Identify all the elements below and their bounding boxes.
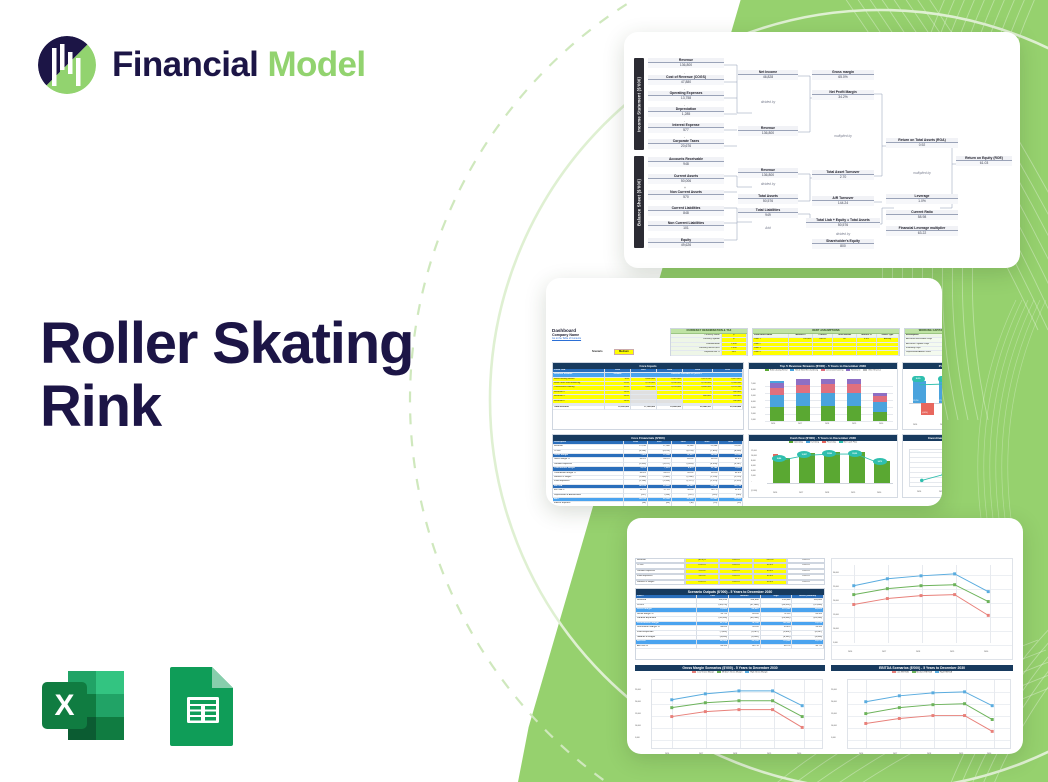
cumulative-cash-line — [910, 450, 942, 487]
data-label-bubble: 9,070 — [873, 458, 887, 465]
dupont-node: Operating Expenses13,758 — [648, 91, 724, 101]
table-cell: 24.5% — [697, 645, 729, 650]
table-row: Salaries & Wages105.0%100.0%95.0%100.0% — [635, 580, 825, 585]
table-cell: 40.7% — [729, 645, 761, 650]
table-of-contents-link[interactable]: Go to the Table of Contents — [552, 337, 581, 340]
working-capital-panel: WORKING CAPITAL & DEPRECIATION Assumptio… — [904, 328, 942, 356]
dupont-node: Gross margin65.0% — [812, 70, 874, 80]
scenario-assumptions-table: Revenue(85.0)%100.0%110.0%100.0%COGS105.… — [635, 558, 825, 585]
legend-item: Operating — [789, 441, 803, 443]
investment-payback-chart[interactable]: Investment Payback Chart ($'000) - 5 Yea… — [902, 434, 942, 498]
legend-item: Investing — [806, 441, 819, 443]
brand-wordmark: Financial Model — [112, 45, 366, 85]
scenario-sheet: Revenue(85.0)%100.0%110.0%100.0%COGS105.… — [635, 558, 1015, 728]
dupont-node: Current Assets50,006 — [648, 174, 724, 184]
legend-item: Medium Gross Margin — [717, 671, 742, 673]
ebitda-scenarios-chart[interactable]: EBITDA Scenarios ($'000) - 5 Years to De… — [831, 665, 1013, 754]
plot-area: 36.2% 37.1% 38.0% 38.7% 39.4% 12,250 17,… — [909, 377, 942, 423]
table-cell: (31) — [696, 502, 720, 506]
dupont-node: Total Liab + Equity = Total Assets50,576 — [806, 218, 880, 228]
page-title-line2: Rink — [40, 376, 510, 439]
table-cell: Interest Expense — [553, 502, 624, 506]
dupont-node: Equity49,626 — [648, 238, 724, 248]
cash-flow-chart[interactable]: Cash flow ($'000) - 5 Years to December … — [748, 434, 898, 498]
legend-item: Retail Store Merchandising — [790, 369, 818, 371]
table-cell[interactable]: 100.0% — [719, 580, 753, 585]
gross-margin-scenarios-chart[interactable]: Gross Margin Scenarios ($'000) - 5 Years… — [635, 665, 825, 754]
legend-item: Net Cash Flow — [839, 441, 857, 443]
scenario-selector[interactable]: Medium — [614, 349, 634, 355]
brand-word-model: Model — [267, 45, 365, 84]
dupont-node: Current Ratio58.98 — [886, 210, 958, 220]
table-row: EBITDA %24.5%40.7%44.7%40.7% — [636, 645, 824, 650]
dupont-node: Return on Total Assets (ROA)0.92 — [886, 138, 958, 148]
core-inputs-table: Core Inputs Fiscal Year20262027202820292… — [552, 362, 744, 430]
dupont-node: Non Current Assets570 — [648, 190, 724, 200]
dupont-node: Net Income46,828 — [738, 70, 798, 80]
revenue-scenarios-chart[interactable]: 30,000 25,000 20,000 15,000 10,000 5,000… — [831, 558, 1013, 660]
table-row: Interest Expense(48)(44)(38)(31)(25) — [553, 502, 743, 506]
dupont-node: Interest Expense577 — [648, 123, 724, 133]
plot-area — [909, 449, 942, 487]
dupont-node: Total Asset Turnover2.70 — [812, 170, 874, 180]
dupont-node: Total Assets50,576 — [738, 194, 798, 204]
scenario-lines — [832, 559, 1012, 660]
plot-area: 8,464 10,837 12,500 13,891 9,070 — [767, 449, 893, 487]
currency-panel: CURRENCY DENOMINATION & TAX Currency Nam… — [670, 328, 748, 356]
core-financials-body: Revenue12,25017,36019,26622,54625,537COG… — [553, 445, 743, 506]
brand-logo: Financial Model — [36, 34, 366, 96]
core-financials-table: Core Financials ($'000) Description20262… — [552, 434, 744, 498]
dupont-node: Total Liabilities949 — [738, 208, 798, 218]
dupont-node: Revenue136,800 — [738, 126, 798, 136]
dupont-node: Accounts Receivable948 — [648, 157, 724, 167]
data-label-bubble: 36.2% — [912, 376, 925, 382]
dupont-node: Revenue136,800 — [648, 58, 724, 68]
table-cell[interactable]: 95.0% — [753, 580, 787, 585]
circle-bar-chart-icon — [36, 34, 98, 96]
table-cell: (44) — [648, 502, 672, 506]
table-cell: EBITDA % — [636, 645, 697, 650]
poster-stage: Financial Model Roller Skating Rink X — [0, 0, 1048, 782]
dupont-node: Leverage1.0% — [886, 194, 958, 204]
scenario-label: Scenario — [592, 350, 603, 353]
legend-item: High EBITDA — [935, 671, 952, 673]
legend-item: High Gross Margin — [745, 671, 767, 673]
table-cell: (38) — [672, 502, 696, 506]
dupont-node: Cost of Revenue (COGS)47,880 — [648, 75, 724, 85]
legend-item: Other Revenue — [863, 369, 881, 371]
format-badges: X — [36, 663, 239, 748]
page-title: Roller Skating Rink — [40, 313, 510, 438]
data-label-bubble: 8,464 — [772, 455, 786, 462]
svg-text:X: X — [54, 689, 74, 722]
legend-item: Roller-skating Rental — [765, 369, 787, 371]
dupont-node: Net Profit Margin34.2% — [812, 90, 874, 100]
dashboard-sheet: Dashboard Company Name Go to the Table o… — [552, 328, 936, 492]
dupont-node: Current Liabilities848 — [648, 206, 724, 216]
legend-item: Low EBITDA — [892, 671, 909, 673]
table-cell: 100.0% — [787, 580, 825, 585]
dupont-node: Corporate Taxes20,676 — [648, 139, 724, 149]
table-cell: (25) — [719, 502, 743, 506]
ebitda-pct-line — [909, 377, 942, 437]
scenario-analysis-screenshot[interactable]: Revenue(85.0)%100.0%110.0%100.0%COGS105.… — [627, 518, 1023, 754]
table-cell: 44.7% — [761, 645, 793, 650]
data-label-bubble: 13,891 — [848, 450, 862, 457]
debt-assumptions-panel: DEBT ASSUMPTIONS Loan/Grant Name Amount … — [752, 328, 900, 356]
data-label-bubble: 37.1% — [938, 376, 942, 382]
dupont-node: Return on Equity (ROE)61.03 — [956, 156, 1012, 166]
table-cell: Salaries & Wages — [635, 580, 685, 585]
dupont-node: Revenue136,800 — [738, 168, 798, 178]
dupont-node: Shareholder's Equity800 — [812, 239, 874, 249]
profitability-chart[interactable]: Profitability ($'000) - 5 Years to Decem… — [902, 362, 942, 430]
dupont-balance-sheet-label: Balance Sheet ($'000) — [634, 156, 644, 248]
plot-area — [651, 679, 823, 749]
legend-item: Financing — [822, 441, 836, 443]
dupont-node: A/R Turnover144.24 — [812, 196, 874, 206]
plot-area — [847, 679, 1011, 749]
plot-area — [765, 379, 893, 421]
dupont-node: Non Current Liabilities101 — [648, 221, 724, 231]
revenue-streams-chart[interactable]: Top 5 Revenue Streams ($'000) - 5 Years … — [748, 362, 898, 430]
dupont-diagram: Income Statement ($'000) Balance Sheet (… — [634, 56, 1012, 248]
legend-item: Low Gross Margin — [692, 671, 714, 673]
table-cell[interactable]: 105.0% — [685, 580, 719, 585]
dupont-node: Depreciation1,285 — [648, 107, 724, 117]
table-cell: (48) — [624, 502, 648, 506]
legend-item: Revenue 4 — [846, 369, 860, 371]
dupont-income-statement-label: Income Statement ($'000) — [634, 58, 644, 150]
scenario-outputs-table: Scenario Outputs ($'000) - 5 Years to De… — [635, 588, 825, 660]
legend-item: Medium EBITDA — [912, 671, 932, 673]
page-title-line1: Roller Skating — [40, 313, 510, 376]
brand-word-financial: Financial — [112, 45, 258, 84]
table-cell: 40.7% — [792, 645, 824, 650]
google-sheets-icon[interactable] — [166, 663, 239, 748]
dupont-analysis-screenshot[interactable]: Income Statement ($'000) Balance Sheet (… — [624, 32, 1020, 268]
dupont-node: Financial Leverage multiplier63.22 — [886, 226, 958, 236]
dashboard-screenshot[interactable]: Dashboard Company Name Go to the Table o… — [546, 278, 942, 506]
microsoft-excel-icon[interactable]: X — [36, 663, 132, 748]
legend-item: Concession/Catering — [821, 369, 843, 371]
